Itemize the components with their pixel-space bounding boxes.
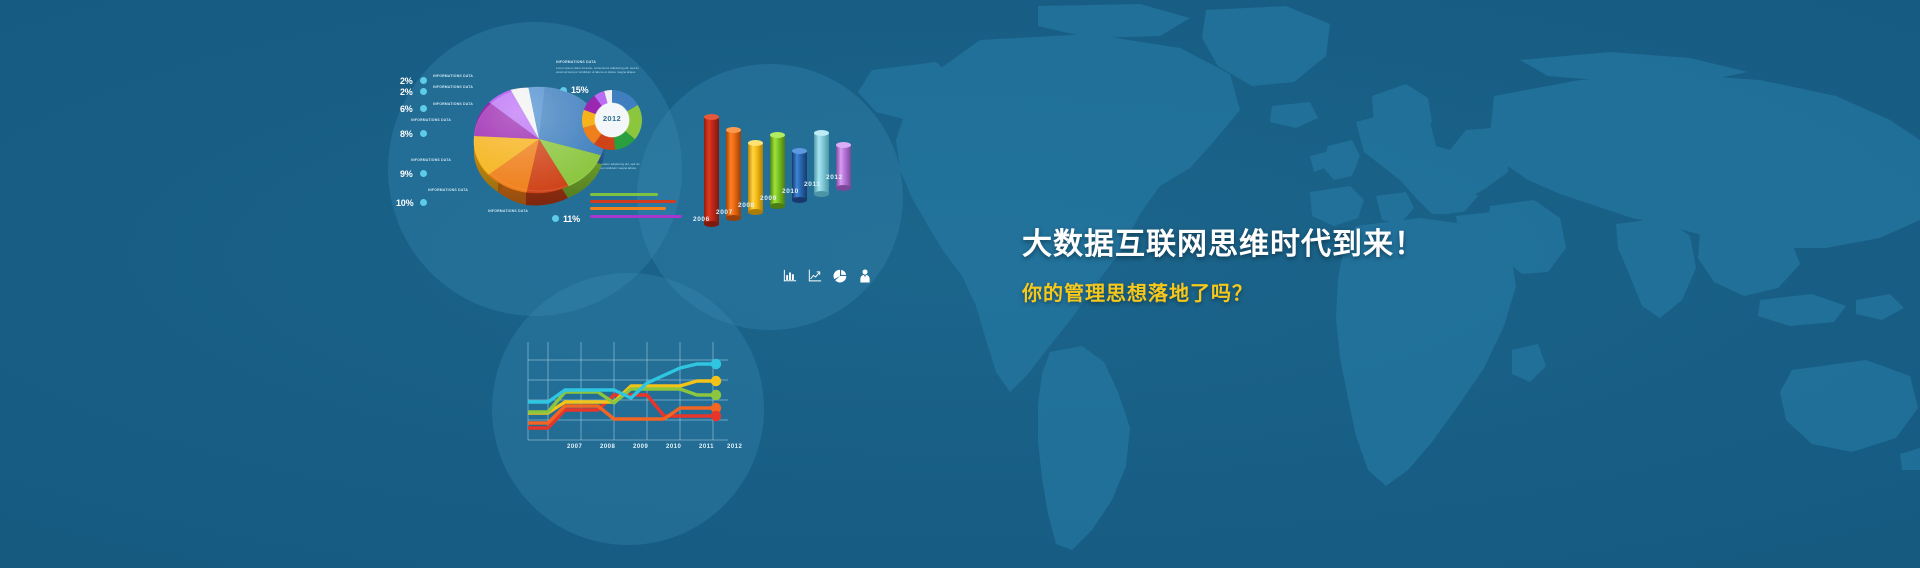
line-chart-panel: 2007 2008 2009 2010 2011 2012 — [520, 340, 745, 455]
bar-chart-graphic — [700, 95, 900, 270]
headline-secondary: 你的管理思想落地了吗？ — [1022, 281, 1425, 307]
headline-block: 大数据互联网思维时代到来！ 你的管理思想落地了吗？ — [1022, 228, 1425, 307]
pie-legend-dot-2a — [420, 77, 427, 84]
bar-year-2006: 2006 — [693, 216, 710, 223]
headline-primary: 大数据互联网思维时代到来！ — [1022, 228, 1425, 262]
line-chart-up-icon[interactable] — [808, 269, 822, 283]
pie-legend-dot-10 — [420, 199, 427, 206]
line-x-label-2012: 2012 — [727, 444, 742, 450]
line-x-label-2008: 2008 — [600, 444, 615, 450]
bar-chart-icon[interactable] — [783, 269, 797, 283]
pie-chart-panel: 2% INFORMATIONS DATA 2% INFORMATIONS DAT… — [400, 60, 690, 250]
line-chart-graphic — [520, 340, 745, 455]
pie-legend-dot-8 — [420, 130, 427, 137]
pie-legend-label-8: INFORMATIONS DATA — [411, 118, 451, 122]
donut-center-year: 2012 — [599, 114, 625, 123]
pie-legend-value-6: 6% — [400, 104, 413, 114]
bar-year-2010: 2010 — [782, 188, 799, 195]
pie-chart-icon[interactable] — [833, 269, 847, 283]
pie-legend-value-2b: 2% — [400, 87, 413, 97]
pie-legend-dot-9 — [420, 170, 427, 177]
banner-root: 2% INFORMATIONS DATA 2% INFORMATIONS DAT… — [0, 0, 1920, 568]
person-icon[interactable] — [858, 269, 872, 283]
line-x-label-2010: 2010 — [666, 444, 681, 450]
pie-legend-dot-6 — [420, 105, 427, 112]
bar-chart-panel: 2006 2007 2008 2009 2010 2011 2012 — [700, 95, 910, 310]
bar-year-2008: 2008 — [738, 202, 755, 209]
stat-icon-row — [783, 269, 872, 283]
pie-legend-value-8: 8% — [400, 129, 413, 139]
bar-year-2009: 2009 — [760, 195, 777, 202]
pie-legend-value-10: 10% — [396, 198, 413, 208]
pie-legend-label-9: INFORMATIONS DATA — [411, 158, 451, 162]
pie-info-title-top: INFORMATIONS DATA — [556, 60, 596, 64]
bar-year-2012: 2012 — [826, 174, 843, 181]
pie-legend-value-9: 9% — [400, 169, 413, 179]
line-x-label-2009: 2009 — [633, 444, 648, 450]
pie-legend-dot-2b — [420, 88, 427, 95]
line-x-label-2011: 2011 — [699, 444, 714, 450]
bar-year-2007: 2007 — [716, 209, 733, 216]
pie-legend-label-10: INFORMATIONS DATA — [428, 188, 468, 192]
line-x-label-2007: 2007 — [567, 444, 582, 450]
bar-year-2011: 2011 — [804, 181, 821, 188]
pie-legend-value-2a: 2% — [400, 76, 413, 86]
background-vignette — [0, 0, 1920, 568]
